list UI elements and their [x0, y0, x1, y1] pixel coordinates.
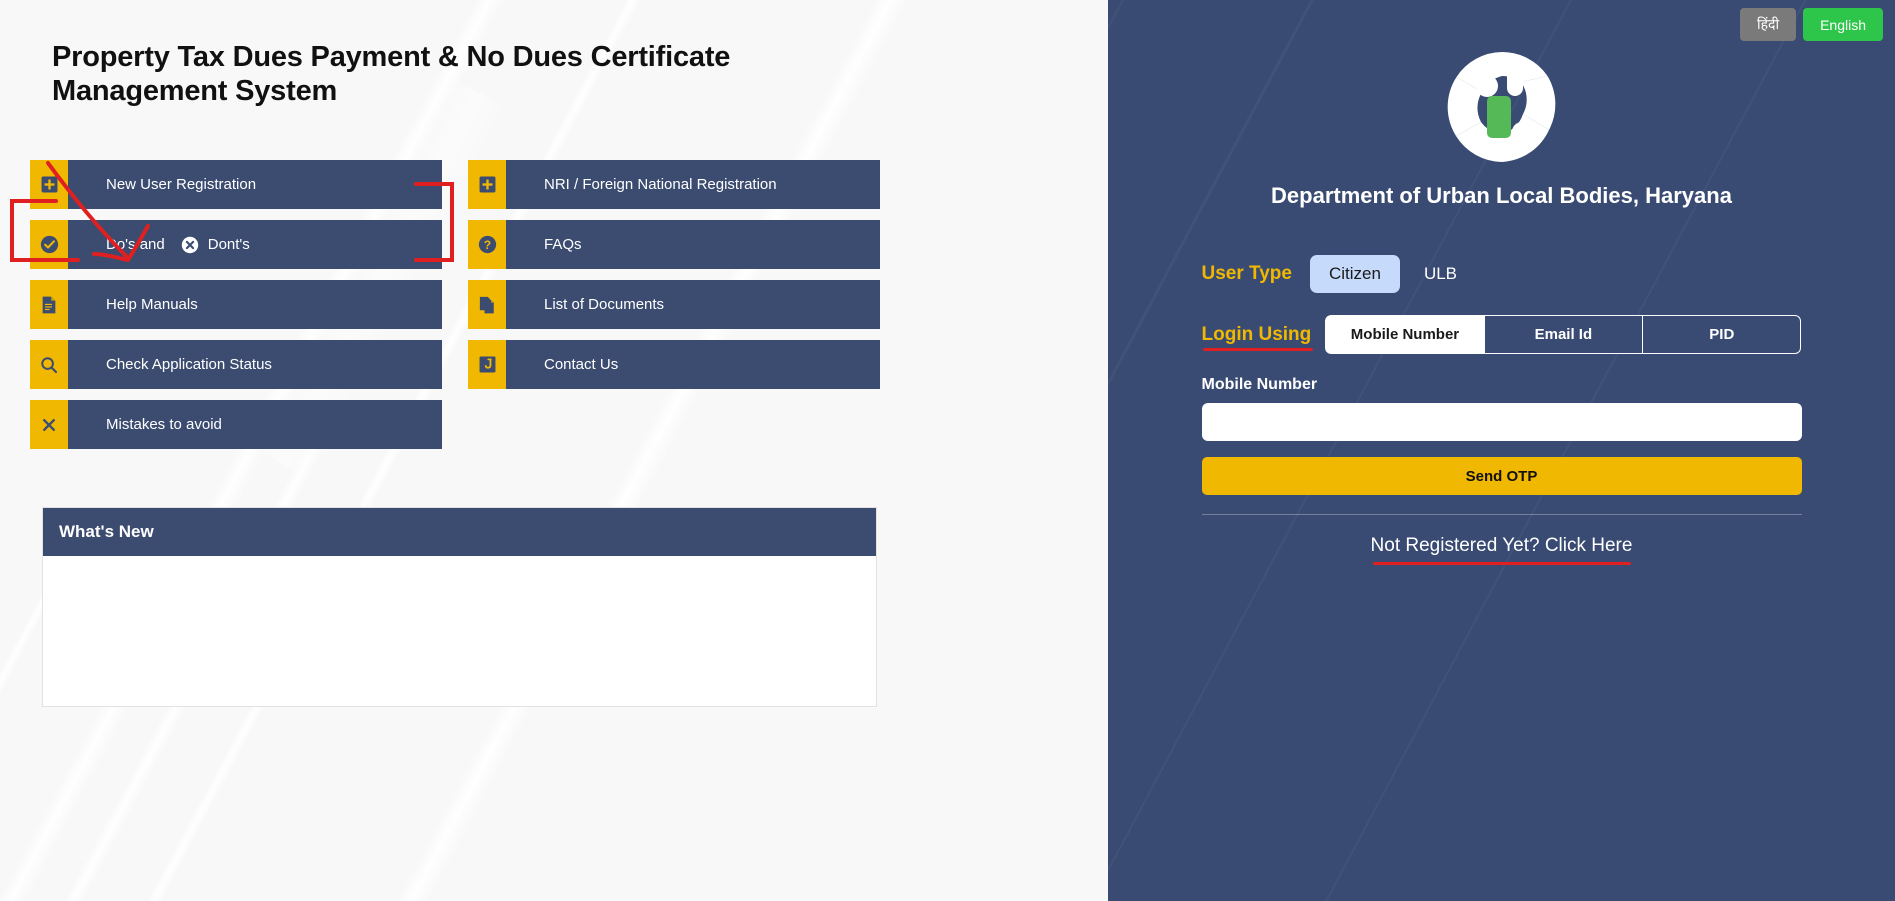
- not-registered-link[interactable]: Not Registered Yet? Click Here: [1371, 535, 1633, 556]
- tab-mobile-number[interactable]: Mobile Number: [1325, 315, 1484, 354]
- department-name: Department of Urban Local Bodies, Haryan…: [1271, 180, 1732, 211]
- menu-item-label: New User Registration: [68, 160, 442, 209]
- times-circle-icon: [181, 236, 199, 254]
- register-link-wrapper: Not Registered Yet? Click Here: [1202, 535, 1802, 557]
- svg-text:?: ?: [483, 238, 490, 252]
- check-circle-icon: [30, 220, 68, 269]
- language-english-button[interactable]: English: [1803, 8, 1883, 41]
- menu-item-label: Check Application Status: [68, 340, 442, 389]
- left-content-panel: Property Tax Dues Payment & No Dues Cert…: [0, 0, 1108, 901]
- whats-new-body: [43, 556, 876, 706]
- menu-item-mistakes-to-avoid[interactable]: Mistakes to avoid: [30, 400, 442, 449]
- plus-square-icon: [30, 160, 68, 209]
- question-circle-icon: ?: [468, 220, 506, 269]
- user-type-option-citizen[interactable]: Citizen: [1310, 255, 1400, 293]
- login-using-row: Login Using Mobile Number Email Id PID: [1202, 315, 1802, 354]
- copy-documents-icon: [468, 280, 506, 329]
- page-title: Property Tax Dues Payment & No Dues Cert…: [52, 40, 752, 108]
- menu-item-label: Contact Us: [506, 340, 880, 389]
- annotation-underline-register-link: [1373, 562, 1631, 565]
- menu-item-label: Help Manuals: [68, 280, 442, 329]
- menu-item-nri-foreign-national-registration[interactable]: NRI / Foreign National Registration: [468, 160, 880, 209]
- login-form: User Type Citizen ULB Login Using Mobile…: [1202, 255, 1802, 557]
- menu-item-label: List of Documents: [506, 280, 880, 329]
- application-root: Property Tax Dues Payment & No Dues Cert…: [0, 0, 1895, 901]
- language-switcher: हिंदी English: [1740, 8, 1883, 41]
- phone-icon: [468, 340, 506, 389]
- tab-email-id[interactable]: Email Id: [1484, 315, 1643, 354]
- menu-item-contact-us[interactable]: Contact Us: [468, 340, 880, 389]
- login-using-tabgroup: Mobile Number Email Id PID: [1325, 315, 1801, 354]
- whats-new-panel: What's New: [42, 507, 877, 707]
- login-using-legend: Login Using: [1202, 324, 1312, 346]
- menu-item-faqs[interactable]: ? FAQs: [468, 220, 880, 269]
- login-panel: हिंदी English: [1108, 0, 1895, 901]
- menu-item-help-manuals[interactable]: Help Manuals: [30, 280, 442, 329]
- plus-square-icon: [468, 160, 506, 209]
- menu-item-list-of-documents[interactable]: List of Documents: [468, 280, 880, 329]
- user-type-legend: User Type: [1202, 263, 1292, 285]
- tab-pid[interactable]: PID: [1642, 315, 1801, 354]
- dos-label-text: Do's and: [106, 236, 165, 253]
- menu-item-new-user-registration[interactable]: New User Registration: [30, 160, 442, 209]
- menu-item-check-application-status[interactable]: Check Application Status: [30, 340, 442, 389]
- times-icon: [30, 400, 68, 449]
- user-type-row: User Type Citizen ULB: [1202, 255, 1802, 293]
- language-hindi-button[interactable]: हिंदी: [1740, 8, 1796, 41]
- search-icon: [30, 340, 68, 389]
- mobile-number-label: Mobile Number: [1202, 376, 1802, 394]
- send-otp-button[interactable]: Send OTP: [1202, 457, 1802, 495]
- ulb-haryana-logo-icon: [1443, 48, 1561, 166]
- mobile-number-input[interactable]: [1202, 403, 1802, 441]
- document-icon: [30, 280, 68, 329]
- menu-item-dos-and-donts[interactable]: Do's and Dont's: [30, 220, 442, 269]
- user-type-option-ulb[interactable]: ULB: [1418, 255, 1463, 293]
- donts-label-text: Dont's: [208, 236, 250, 253]
- menu-item-label: Do's and Dont's: [68, 220, 442, 269]
- main-menu-grid: New User Registration NRI / Foreign Nati…: [30, 160, 1078, 449]
- menu-item-label: FAQs: [506, 220, 880, 269]
- whats-new-heading: What's New: [43, 508, 876, 556]
- form-divider: [1202, 514, 1802, 515]
- menu-item-label: Mistakes to avoid: [68, 400, 442, 449]
- menu-item-label: NRI / Foreign National Registration: [506, 160, 880, 209]
